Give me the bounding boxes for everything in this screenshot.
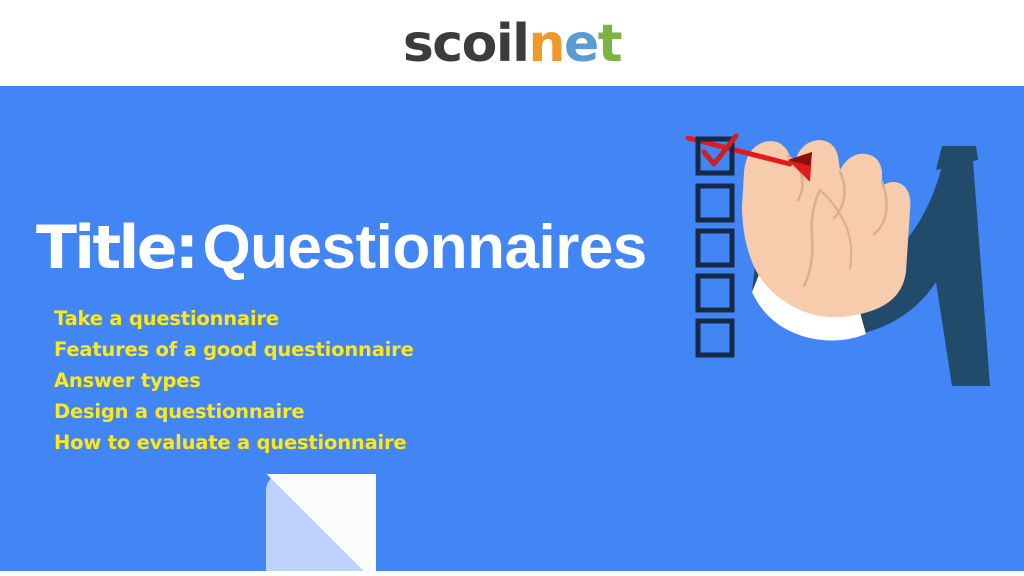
scoilnet-logo[interactable]: scoilnet — [403, 18, 621, 70]
title-label: Title: — [36, 213, 196, 283]
logo-text-e: e — [564, 14, 598, 74]
page-title: Title:Questionnaires — [36, 216, 696, 279]
checkbox-3 — [698, 231, 732, 265]
header-bar: scoilnet — [0, 0, 1024, 86]
checkbox-4 — [698, 276, 732, 310]
list-item: Design a questionnaire — [54, 396, 696, 427]
title-value: Questionnaires — [202, 213, 646, 282]
list-item: How to evaluate a questionnaire — [54, 427, 696, 458]
list-item: Take a questionnaire — [54, 303, 696, 334]
logo-text-n: n — [528, 14, 564, 74]
topic-list: Take a questionnaire Features of a good … — [36, 303, 696, 458]
bottom-white-strip — [0, 571, 1024, 576]
checkbox-2 — [698, 186, 732, 220]
slide-canvas: scoilnet Title:Questionnaires Take a que… — [0, 0, 1024, 576]
list-item: Answer types — [54, 365, 696, 396]
corner-fold-shape — [266, 474, 376, 571]
checkbox-5 — [698, 321, 732, 355]
checklist-illustration — [660, 86, 1024, 571]
checkbox-list — [698, 136, 736, 355]
list-item: Features of a good questionnaire — [54, 334, 696, 365]
slide-body: Title:Questionnaires Take a questionnair… — [0, 86, 1024, 571]
corner-decoration — [266, 474, 376, 571]
logo-text-scoil: scoil — [403, 14, 529, 74]
logo-text-t: t — [598, 14, 621, 74]
slide-text-block: Title:Questionnaires Take a questionnair… — [36, 216, 696, 458]
